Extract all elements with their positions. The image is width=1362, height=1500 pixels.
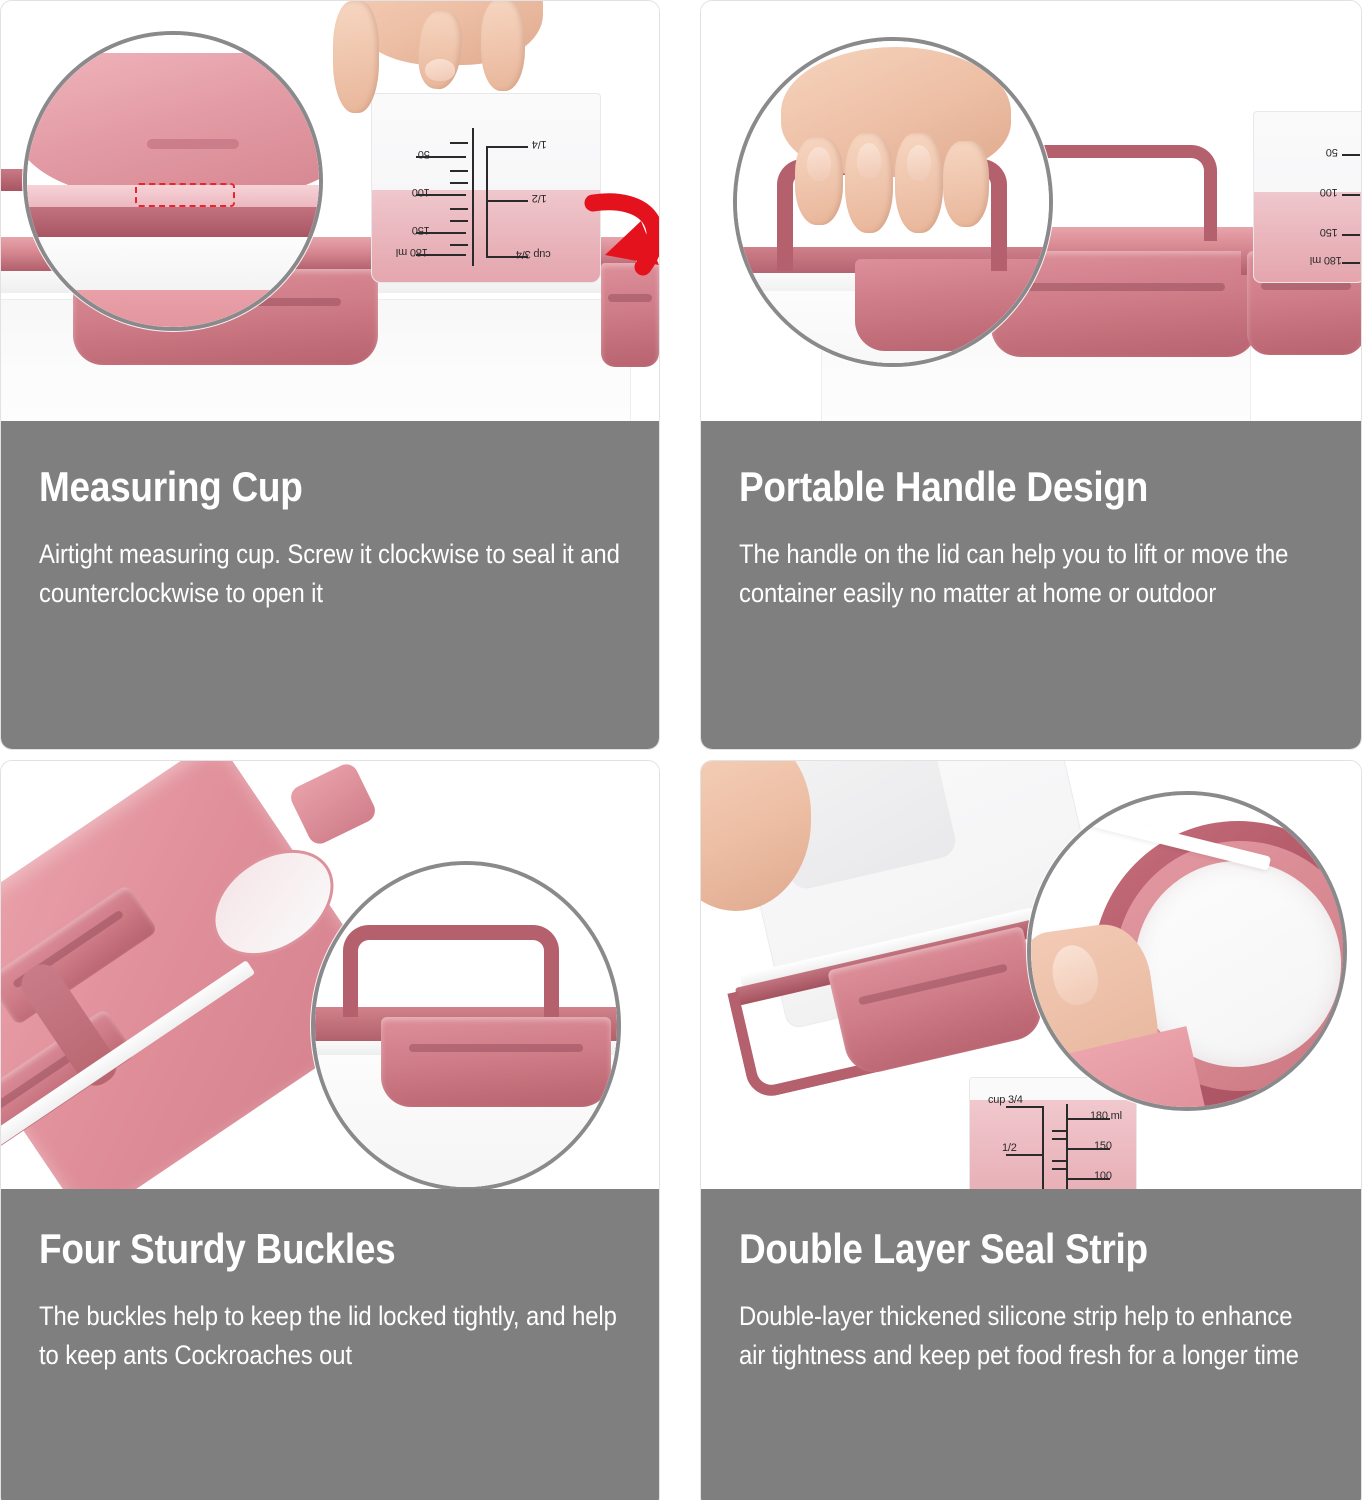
cup-label-100: 100: [1320, 186, 1338, 198]
caption-four-sturdy-buckles: Four Sturdy Buckles The buckles help to …: [1, 1189, 659, 1500]
latch-tab: [287, 761, 379, 848]
cup-label-150: 150: [1094, 1140, 1112, 1152]
cup-label-150: 150: [1320, 226, 1338, 238]
fingernail-1: [807, 147, 831, 181]
caption-portable-handle: Portable Handle Design The handle on the…: [701, 421, 1361, 749]
cup-label-100: 100: [1094, 1170, 1112, 1182]
feature-panel-double-layer-seal-strip: cup 3/4 1/2 1/4 180 ml 150 100 50: [700, 760, 1362, 1500]
magnifier-callout-seal: [23, 31, 323, 331]
cup-label-180ml: 180 ml: [396, 246, 428, 258]
product-photo-four-sturdy-buckles: [1, 761, 659, 1189]
magnifier-callout-seal-ring: [1027, 791, 1347, 1111]
finger-4: [943, 141, 989, 227]
cup-label-quarter: 1/4: [532, 138, 547, 150]
feature-description: The buckles help to keep the lid locked …: [39, 1297, 620, 1375]
feature-title: Double Layer Seal Strip: [739, 1227, 1253, 1271]
finger-right: [481, 1, 525, 91]
product-photo-measuring-cup: 50 100 150 180 ml 1/4 1/2 cup 3/4: [1, 1, 659, 421]
cup-label-half: 1/2: [1002, 1142, 1017, 1154]
fingernail: [425, 59, 455, 81]
finger-left: [333, 1, 379, 113]
magnifier-callout-buckle: [311, 861, 621, 1189]
twist-arrow-icon: [571, 181, 659, 291]
fingernail-2: [857, 143, 881, 179]
cup-label-150: 150: [412, 224, 430, 236]
measuring-cup: 50 100 150 180 ml: [1253, 111, 1361, 283]
product-photo-portable-handle: 50 100 150 180 ml: [701, 1, 1361, 421]
feature-description: The handle on the lid can help you to li…: [739, 535, 1322, 613]
feature-panel-portable-handle: 50 100 150 180 ml: [700, 0, 1362, 750]
caption-double-layer-seal-strip: Double Layer Seal Strip Double-layer thi…: [701, 1189, 1361, 1500]
feature-title: Four Sturdy Buckles: [39, 1227, 551, 1271]
feature-description: Airtight measuring cup. Screw it clockwi…: [39, 535, 620, 613]
magnifier-callout-handle: [733, 37, 1053, 367]
buckle-closeup: [381, 1017, 611, 1107]
cup-label-three-quarter: cup 3/4: [988, 1094, 1023, 1106]
caption-measuring-cup: Measuring Cup Airtight measuring cup. Sc…: [1, 421, 659, 749]
cup-label-50: 50: [418, 148, 430, 160]
feature-grid: 50 100 150 180 ml 1/4 1/2 cup 3/4: [0, 0, 1362, 1500]
feature-title: Measuring Cup: [39, 465, 551, 509]
cup-label-quarter: 1/4: [1002, 1188, 1017, 1189]
cup-label-half: 1/2: [532, 192, 547, 204]
feature-panel-measuring-cup: 50 100 150 180 ml 1/4 1/2 cup 3/4: [0, 0, 660, 750]
fingernail-3: [907, 145, 931, 181]
cup-label-100: 100: [412, 186, 430, 198]
seal-thread-highlight: [135, 183, 235, 207]
measuring-cup: 50 100 150 180 ml 1/4 1/2 cup 3/4: [371, 93, 601, 283]
feature-description: Double-layer thickened silicone strip he…: [739, 1297, 1322, 1375]
feature-title: Portable Handle Design: [739, 465, 1253, 509]
product-photo-double-layer-seal-strip: cup 3/4 1/2 1/4 180 ml 150 100 50: [701, 761, 1361, 1189]
cup-label-50: 50: [1326, 146, 1338, 158]
feature-panel-four-sturdy-buckles: Four Sturdy Buckles The buckles help to …: [0, 760, 660, 1500]
cup-label-180ml: 180 ml: [1310, 254, 1342, 266]
cup-label-180ml: 180 ml: [1090, 1110, 1122, 1122]
cup-label-three-quarter: cup 3/4: [516, 248, 551, 260]
